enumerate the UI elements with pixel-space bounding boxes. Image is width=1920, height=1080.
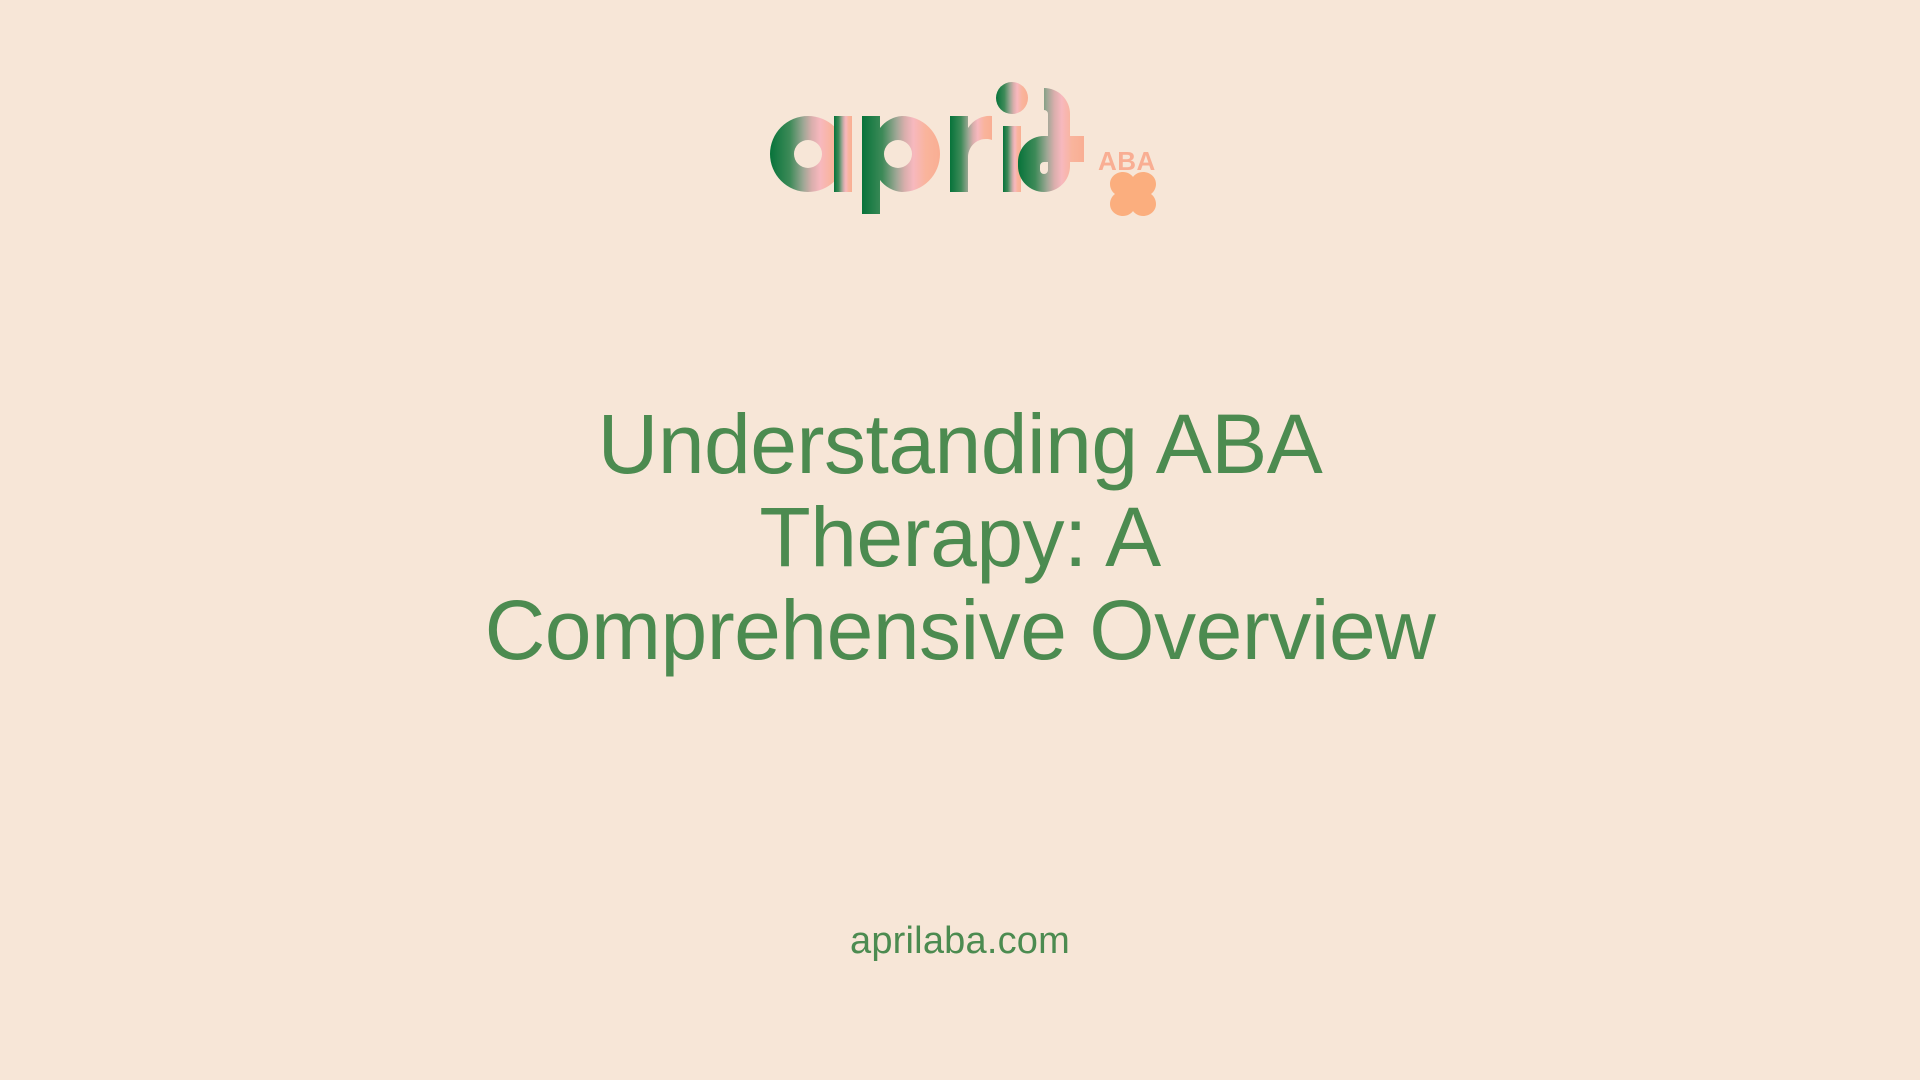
page-title-line-3: Comprehensive Overview: [160, 584, 1760, 677]
logo-svg: ABA: [750, 78, 1170, 228]
page-title-line-2: Therapy: A: [160, 491, 1760, 584]
page-title-line-1: Understanding ABA: [160, 398, 1760, 491]
logo-wordmark-april: [770, 82, 1084, 214]
logo-sub-label: ABA: [1098, 146, 1156, 176]
april-aba-logo[interactable]: ABA: [750, 78, 1170, 228]
site-url[interactable]: aprilaba.com: [0, 920, 1920, 963]
page-title: Understanding ABA Therapy: A Comprehensi…: [0, 398, 1920, 678]
clover-flower-icon: [1110, 172, 1156, 216]
title-slide: ABA Understanding ABA Therapy: A Compreh…: [0, 0, 1920, 1080]
